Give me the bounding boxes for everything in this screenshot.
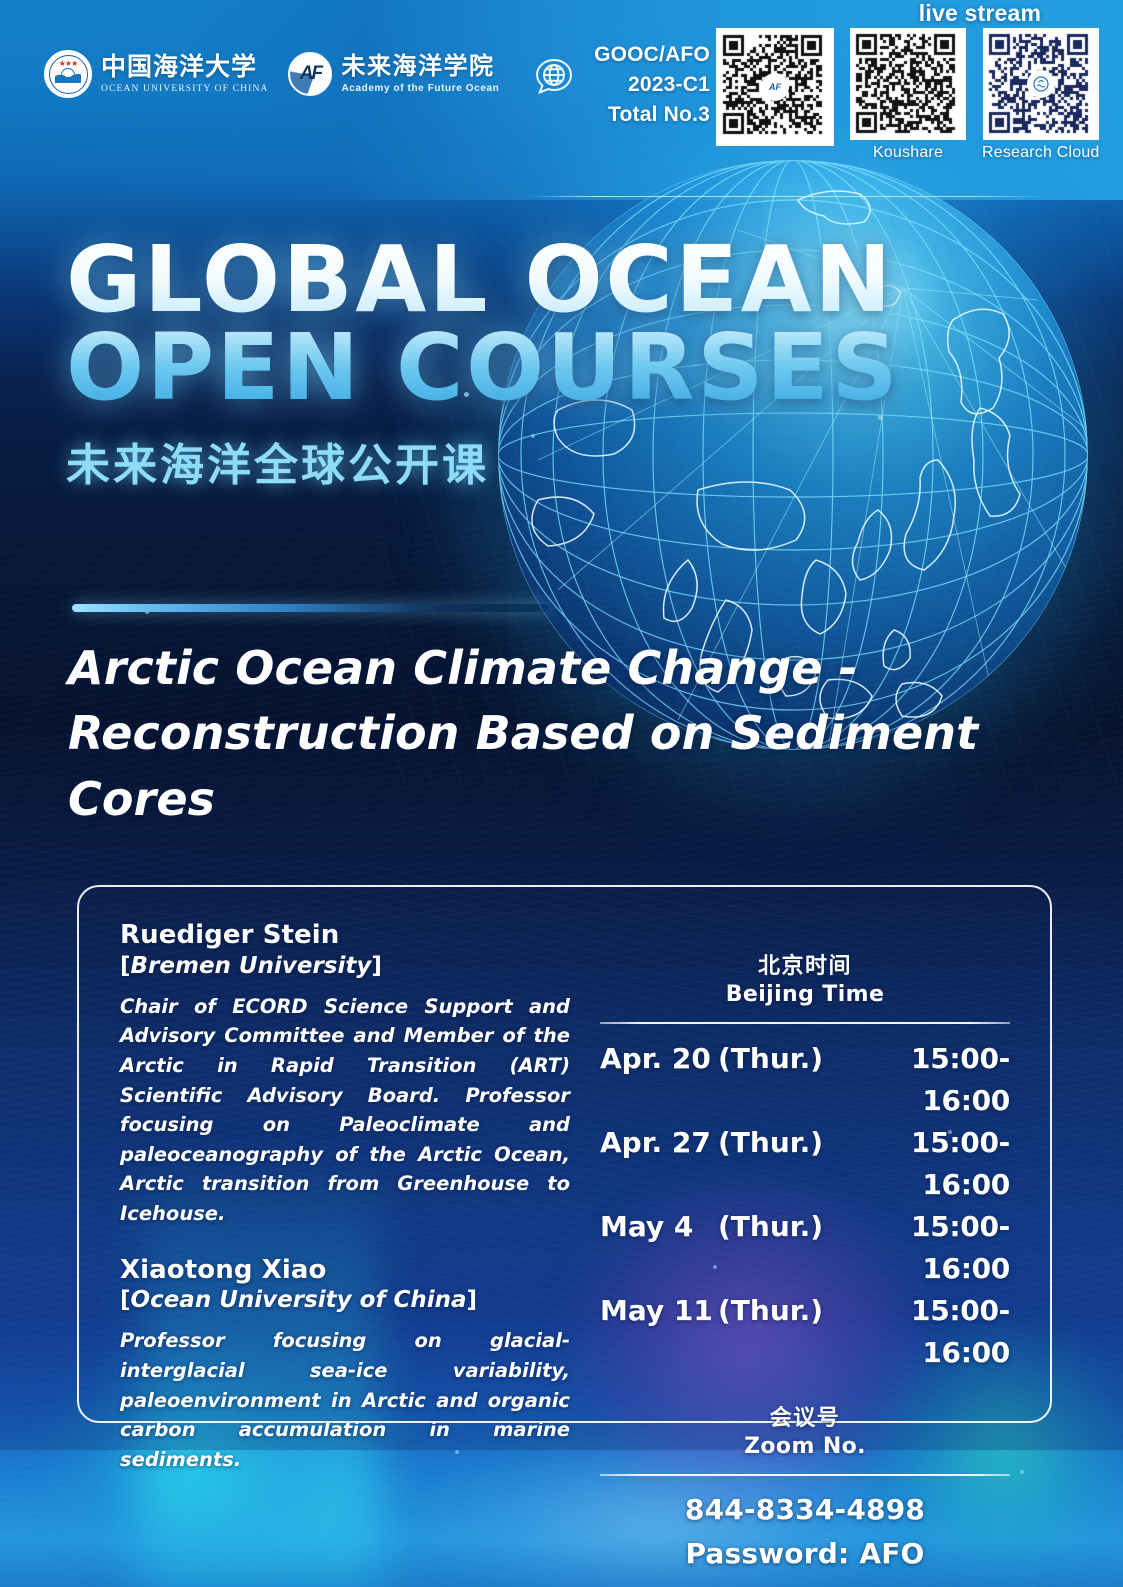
speaker-name: Xiaotong Xiao [120, 1255, 570, 1286]
ouc-seal-icon: ★★★ [44, 50, 92, 98]
schedule-row: May 11(Thur.)15:00-16:00 [600, 1290, 1010, 1374]
qr-center-logo-afo: AF [763, 75, 787, 99]
schedule-heading-en: Beijing Time [600, 982, 1010, 1007]
bracket-open: [ [120, 1287, 131, 1313]
header-divider [528, 196, 1050, 197]
bracket-open: [ [120, 953, 131, 979]
header-logos: ★★★ 中国海洋大学 OCEAN UNIVERSITY OF CHINA AF … [44, 50, 499, 98]
schedule-weekday: (Thur.) [718, 1206, 852, 1248]
qr-code-afo[interactable]: AF [716, 28, 834, 146]
course-code-line-2: 2023-C1 [560, 70, 710, 100]
qr-item-research-cloud[interactable]: Research Cloud [982, 28, 1100, 162]
speaker-affiliation: [Ocean University of China] [120, 1286, 570, 1314]
schedule-time: 15:00-16:00 [852, 1206, 1010, 1290]
zoom-divider [600, 1474, 1010, 1476]
hero-title-block: GLOBAL OCEAN OPEN COURSES 未来海洋全球公开课 [66, 236, 906, 493]
schedule-rows: Apr. 20(Thur.)15:00-16:00Apr. 27(Thur.)1… [600, 1038, 1010, 1374]
qr-code-research-cloud[interactable] [983, 28, 1099, 140]
afo-monogram: AF [300, 63, 321, 85]
speaker-name: Ruediger Stein [120, 920, 570, 951]
zoom-heading-en: Zoom No. [600, 1434, 1010, 1459]
affiliation-text: Bremen University [131, 953, 372, 979]
qr-item-afo[interactable]: AF [716, 28, 834, 150]
afo-name-cn: 未来海洋学院 [341, 54, 499, 79]
qr-caption-research-cloud: Research Cloud [982, 144, 1100, 162]
hero-divider-bar [72, 604, 548, 612]
course-code: GOOC/AFO 2023-C1 Total No.3 [560, 40, 710, 129]
speakers-column: Ruediger Stein [Bremen University] Chair… [120, 920, 570, 1475]
schedule-divider [600, 1022, 1010, 1024]
sparkle [1020, 1470, 1024, 1474]
live-stream-label: live stream [880, 0, 1080, 27]
schedule-row: Apr. 27(Thur.)15:00-16:00 [600, 1122, 1010, 1206]
speaker-block-2: Xiaotong Xiao [Ocean University of China… [120, 1255, 570, 1475]
hero-title-line-2: OPEN COURSES [66, 324, 906, 412]
hero-subtitle-cn: 未来海洋全球公开课 [66, 429, 906, 493]
schedule-weekday: (Thur.) [718, 1122, 852, 1164]
page-title: GLOBAL OCEAN OPEN COURSES [66, 236, 906, 413]
poster-root: ★★★ 中国海洋大学 OCEAN UNIVERSITY OF CHINA AF … [0, 0, 1123, 1587]
course-code-line-3: Total No.3 [560, 100, 710, 130]
schedule-weekday: (Thur.) [718, 1290, 852, 1332]
afo-name-en: Academy of the Future Ocean [341, 83, 499, 94]
schedule-date: Apr. 27 [600, 1122, 718, 1164]
course-code-line-1: GOOC/AFO [560, 40, 710, 70]
ouc-name-en: OCEAN UNIVERSITY OF CHINA [101, 84, 268, 94]
schedule-time: 15:00-16:00 [852, 1290, 1010, 1374]
qr-caption-koushare: Koushare [873, 144, 943, 162]
schedule-row: May 4(Thur.)15:00-16:00 [600, 1206, 1010, 1290]
qr-code-row: AF Koushare Research Cloud [716, 28, 1100, 162]
schedule-time: 15:00-16:00 [852, 1122, 1010, 1206]
affiliation-text: Ocean University of China [131, 1287, 467, 1313]
speaker-bio: Professor focusing on glacial-interglaci… [120, 1326, 570, 1474]
bracket-close: ] [371, 953, 382, 979]
bracket-close: ] [467, 1287, 478, 1313]
speaker-block-1: Ruediger Stein [Bremen University] Chair… [120, 920, 570, 1229]
qr-center-logo-ouc [1029, 72, 1053, 96]
schedule-column: 北京时间 Beijing Time Apr. 20(Thur.)15:00-16… [600, 948, 1010, 1570]
zoom-heading-cn: 会议号 [600, 1400, 1010, 1432]
lecture-title: Arctic Ocean Climate Change - Reconstruc… [68, 636, 1068, 832]
schedule-date: Apr. 20 [600, 1038, 718, 1080]
schedule-date: May 4 [600, 1206, 718, 1248]
zoom-meeting-number[interactable]: 844-8334-4898 [600, 1490, 1010, 1531]
speaker-bio: Chair of ECORD Science Support and Advis… [120, 992, 570, 1229]
logo-ocean-university-of-china: ★★★ 中国海洋大学 OCEAN UNIVERSITY OF CHINA [44, 50, 268, 98]
schedule-row: Apr. 20(Thur.)15:00-16:00 [600, 1038, 1010, 1122]
zoom-password: Password: AFO [600, 1537, 1010, 1570]
zoom-info-block: 会议号 Zoom No. 844-8334-4898 Password: AFO [600, 1400, 1010, 1570]
schedule-weekday: (Thur.) [718, 1038, 852, 1080]
qr-code-koushare[interactable] [850, 28, 966, 140]
schedule-time: 15:00-16:00 [852, 1038, 1010, 1122]
speaker-affiliation: [Bremen University] [120, 952, 570, 980]
schedule-date: May 11 [600, 1290, 718, 1332]
schedule-heading-cn: 北京时间 [600, 948, 1010, 980]
qr-item-koushare[interactable]: Koushare [850, 28, 966, 162]
logo-academy-future-ocean: AF 未来海洋学院 Academy of the Future Ocean [288, 52, 499, 96]
ouc-name-cn: 中国海洋大学 [101, 54, 268, 80]
afo-mark-icon: AF [288, 52, 332, 96]
